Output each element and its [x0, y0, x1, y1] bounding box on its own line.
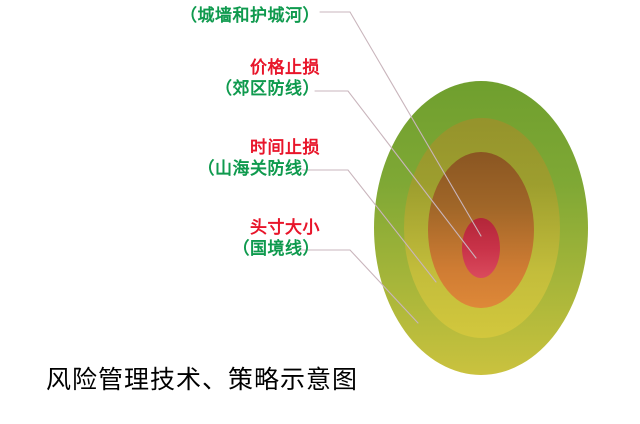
label-position-size: 头寸大小 （国境线）: [233, 218, 321, 261]
label-position-size-primary: 头寸大小: [233, 218, 321, 239]
label-time-stop-loss-primary: 时间止损: [198, 138, 321, 159]
diagram-caption: 风险管理技术、策略示意图: [46, 360, 358, 396]
label-wall-moat-secondary: （城墙和护城河）: [180, 6, 320, 27]
label-price-stop-loss-primary: 价格止损: [215, 58, 320, 79]
label-time-stop-loss-secondary: （山海关防线）: [198, 159, 321, 180]
label-price-stop-loss: 价格止损 （郊区防线）: [215, 58, 320, 101]
label-price-stop-loss-secondary: （郊区防线）: [215, 79, 320, 100]
diagram-canvas: （城墙和护城河） 价格止损 （郊区防线） 时间止损 （山海关防线） 头寸大小 （…: [0, 0, 640, 424]
label-wall-moat: （城墙和护城河）: [180, 6, 320, 27]
label-time-stop-loss: 时间止损 （山海关防线）: [198, 138, 321, 181]
label-position-size-secondary: （国境线）: [233, 239, 321, 260]
